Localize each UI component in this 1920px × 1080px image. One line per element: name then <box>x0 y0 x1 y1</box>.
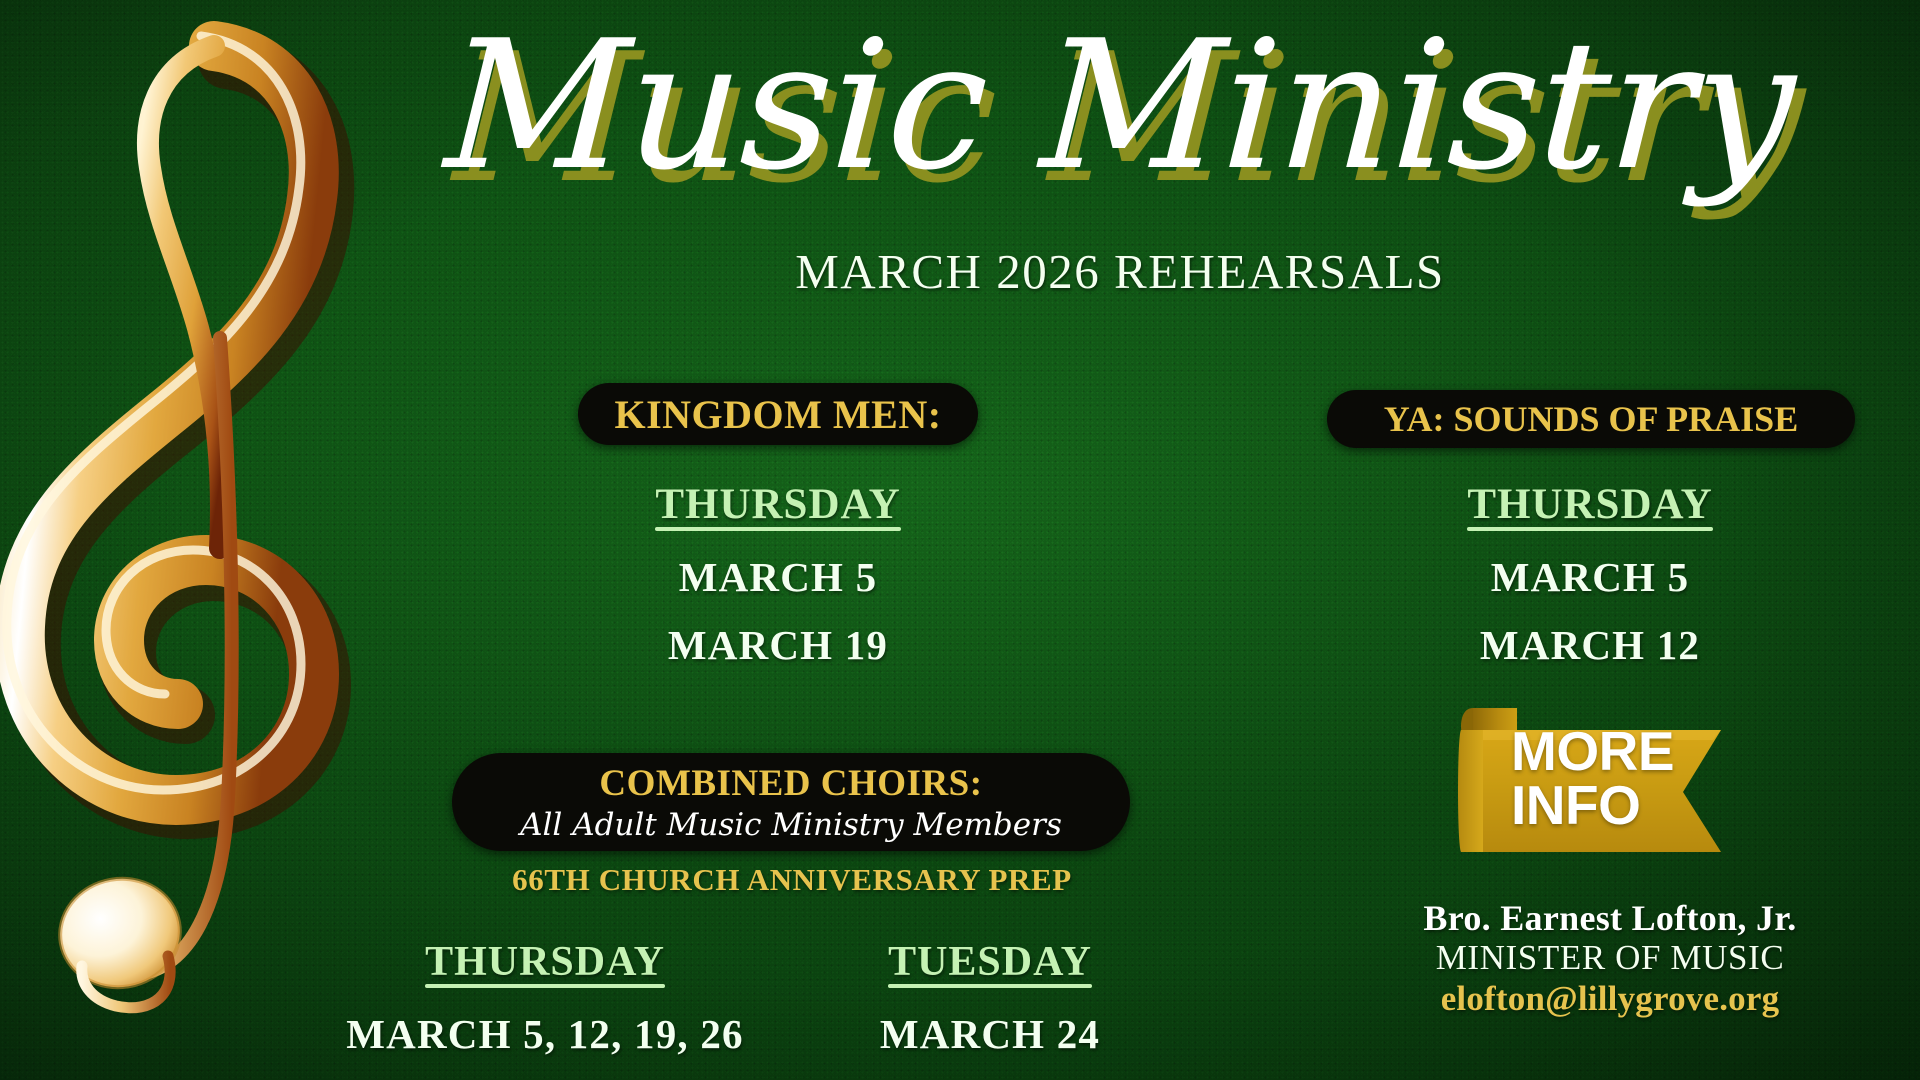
ya-day: THURSDAY <box>1467 480 1712 531</box>
schedule-combined-tuesday: TUESDAY MARCH 24 <box>790 938 1190 1058</box>
pill-ya-sounds-of-praise-label: YA: SOUNDS OF PRAISE <box>1384 398 1798 440</box>
page-subtitle: MARCH 2026 REHEARSALS <box>380 243 1860 300</box>
flyer-canvas: Music Ministry Music Ministry MARCH 2026… <box>0 0 1920 1080</box>
page-title-text: Music Ministry <box>375 6 1865 206</box>
kingdom-men-date-2: MARCH 19 <box>528 621 1028 669</box>
contact-block: Bro. Earnest Lofton, Jr. MINISTER OF MUS… <box>1330 898 1890 1020</box>
pill-kingdom-men: KINGDOM MEN: <box>578 383 978 445</box>
contact-name: Bro. Earnest Lofton, Jr. <box>1330 898 1890 938</box>
kingdom-men-date-1: MARCH 5 <box>528 553 1028 601</box>
pill-kingdom-men-label: KINGDOM MEN: <box>614 391 941 438</box>
combined-thursday-dates: MARCH 5, 12, 19, 26 <box>300 1010 790 1058</box>
contact-role: MINISTER OF MUSIC <box>1330 938 1890 978</box>
more-info-label: MORE INFO <box>1511 724 1721 832</box>
treble-clef-icon <box>0 8 422 1080</box>
schedule-ya-sounds-of-praise: THURSDAY MARCH 5 MARCH 12 <box>1340 480 1840 669</box>
anniversary-prep-note: 66TH CHURCH ANNIVERSARY PREP <box>392 862 1192 898</box>
pill-ya-sounds-of-praise: YA: SOUNDS OF PRAISE <box>1327 390 1855 448</box>
pill-combined-choirs: COMBINED CHOIRS: All Adult Music Ministr… <box>452 753 1130 851</box>
ya-date-1: MARCH 5 <box>1340 553 1840 601</box>
schedule-combined-thursday: THURSDAY MARCH 5, 12, 19, 26 <box>300 938 790 1058</box>
more-info-button[interactable]: MORE INFO <box>1455 700 1765 860</box>
kingdom-men-day: THURSDAY <box>655 480 900 531</box>
ya-date-2: MARCH 12 <box>1340 621 1840 669</box>
combined-tuesday-dates: MARCH 24 <box>790 1010 1190 1058</box>
combined-tuesday-day: TUESDAY <box>888 938 1092 988</box>
pill-combined-choirs-label: COMBINED CHOIRS: <box>599 762 982 805</box>
more-info-line1: MORE <box>1511 724 1721 778</box>
more-info-line2: INFO <box>1511 778 1721 832</box>
pill-combined-choirs-subtitle: All Adult Music Ministry Members <box>520 807 1062 843</box>
schedule-kingdom-men: THURSDAY MARCH 5 MARCH 19 <box>528 480 1028 669</box>
contact-email[interactable]: elofton@lillygrove.org <box>1330 978 1890 1020</box>
combined-thursday-day: THURSDAY <box>425 938 665 988</box>
page-title: Music Ministry Music Ministry <box>380 6 1860 236</box>
